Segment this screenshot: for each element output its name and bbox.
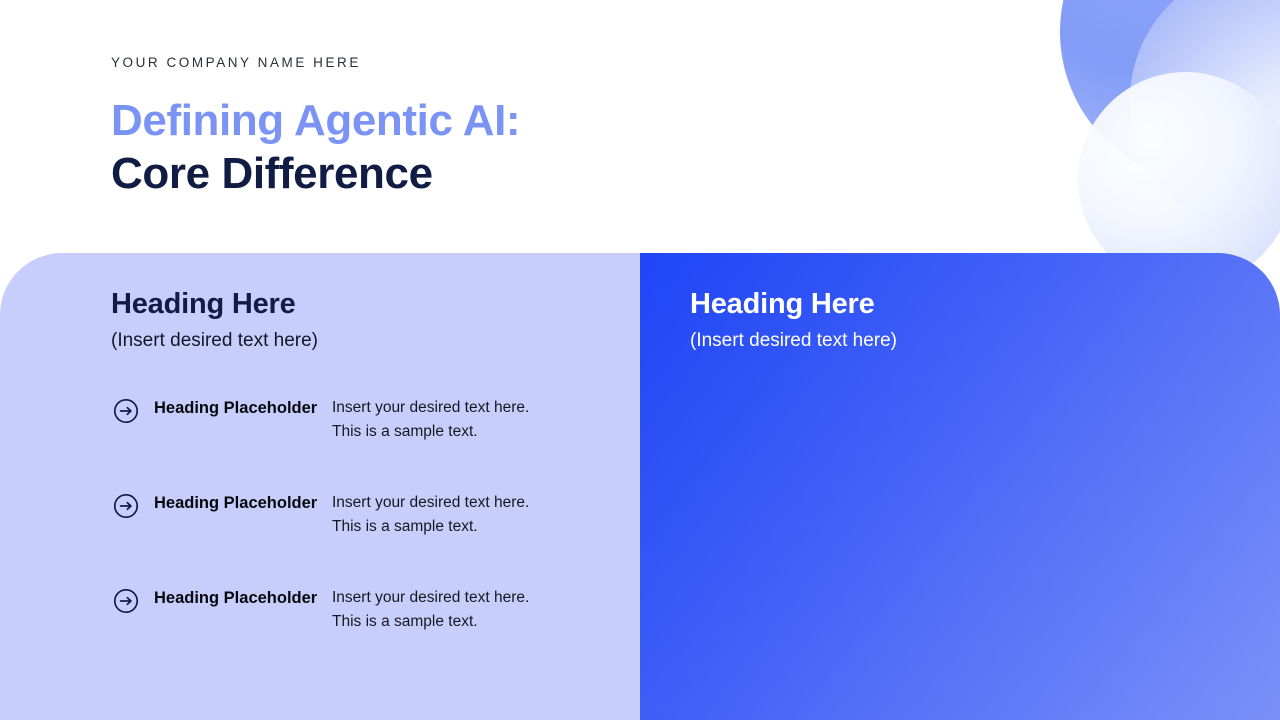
list-item-body-line-2: This is a sample text. xyxy=(332,610,597,634)
panel-left: Heading Here (Insert desired text here) … xyxy=(0,253,640,720)
arrow-circle-right-icon xyxy=(113,588,139,614)
slide-header: YOUR COMPANY NAME HERE Defining Agentic … xyxy=(111,56,931,202)
panel-right-title: Heading Here xyxy=(690,289,897,321)
slide: YOUR COMPANY NAME HERE Defining Agentic … xyxy=(0,0,1280,720)
arrow-circle-right-icon xyxy=(113,493,139,519)
list-item[interactable]: Heading Placeholder Insert your desired … xyxy=(0,491,640,586)
list-item-body: Insert your desired text here. This is a… xyxy=(332,586,597,633)
list-item[interactable]: Heading Placeholder Insert your desired … xyxy=(640,586,1280,681)
panel-right: Heading Here (Insert desired text here) … xyxy=(640,253,1280,720)
list-item[interactable]: Heading Placeholder Insert your desired … xyxy=(640,396,1280,491)
page-title: Defining Agentic AI: Core Difference xyxy=(111,96,931,202)
decorative-circle-small xyxy=(1078,72,1280,270)
panel-right-subtitle: (Insert desired text here) xyxy=(690,328,897,354)
list-item[interactable]: Heading Placeholder Insert your desired … xyxy=(0,396,640,491)
list-item-body: Insert your desired text here. This is a… xyxy=(332,491,597,538)
list-item-heading: Heading Placeholder xyxy=(154,396,324,421)
list-item-body: Insert your desired text here. This is a… xyxy=(332,396,597,443)
list-item-body-line-1: Insert your desired text here. xyxy=(332,396,597,420)
panel-right-header: Heading Here (Insert desired text here) xyxy=(690,289,897,354)
list-item-body-line-1: Insert your desired text here. xyxy=(332,586,597,610)
decorative-circle-medium xyxy=(1130,0,1280,235)
page-title-line-1: Defining Agentic AI: xyxy=(111,96,931,145)
decorative-blobs xyxy=(1020,0,1280,270)
panel-left-title: Heading Here xyxy=(111,289,318,321)
list-item-body-line-2: This is a sample text. xyxy=(332,420,597,444)
list-item-heading: Heading Placeholder xyxy=(154,491,324,516)
company-name-eyebrow: YOUR COMPANY NAME HERE xyxy=(111,56,931,70)
list-item[interactable]: Heading Placeholder Insert your desired … xyxy=(640,491,1280,586)
panel-left-subtitle: (Insert desired text here) xyxy=(111,328,318,354)
page-title-line-2: Core Difference xyxy=(111,145,931,202)
arrow-circle-right-icon xyxy=(113,398,139,424)
list-item-heading: Heading Placeholder xyxy=(154,586,324,611)
list-item-body-line-2: This is a sample text. xyxy=(332,515,597,539)
content-panels: Heading Here (Insert desired text here) … xyxy=(0,253,1280,720)
list-item-body-line-1: Insert your desired text here. xyxy=(332,491,597,515)
list-item[interactable]: Heading Placeholder Insert your desired … xyxy=(0,586,640,681)
panel-right-rows: Heading Placeholder Insert your desired … xyxy=(640,396,1280,681)
panel-left-header: Heading Here (Insert desired text here) xyxy=(111,289,318,354)
panel-left-rows: Heading Placeholder Insert your desired … xyxy=(0,396,640,681)
decorative-circle-large xyxy=(1060,0,1280,182)
